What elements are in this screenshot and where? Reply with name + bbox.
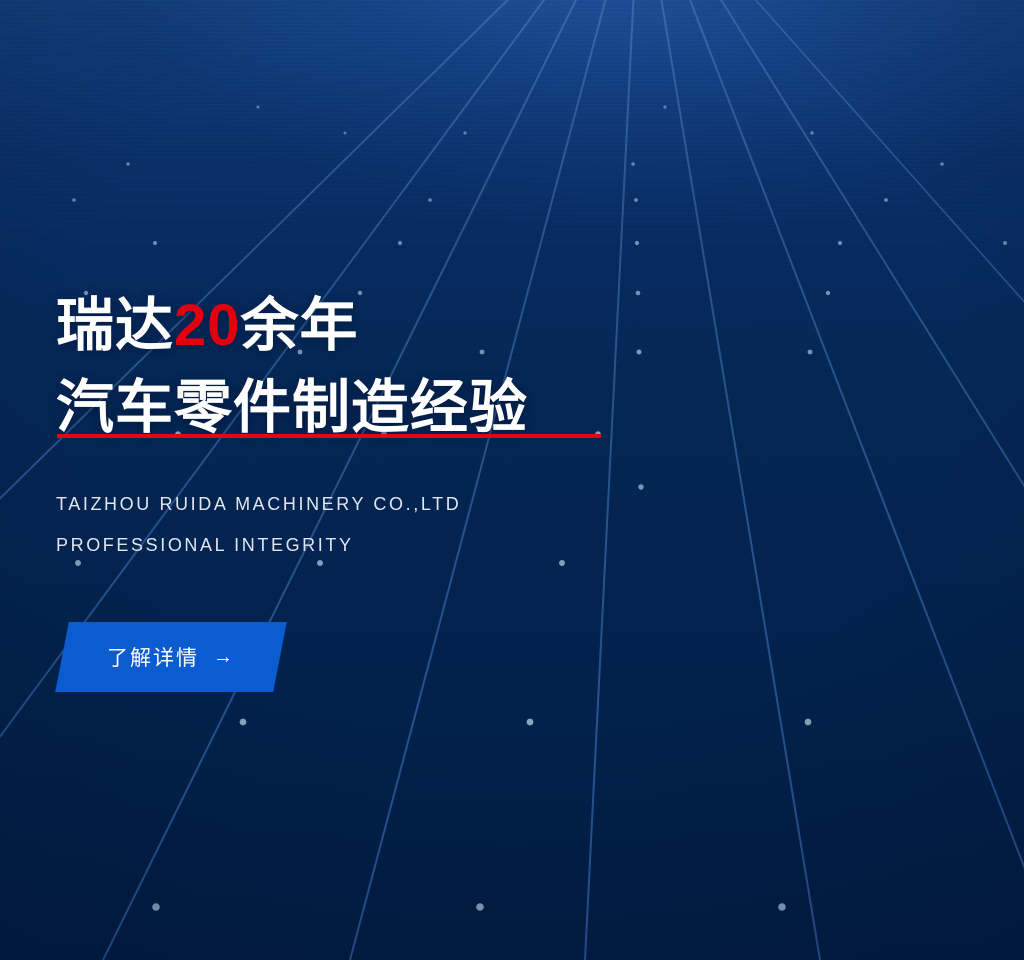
learn-more-button[interactable]: [55, 622, 287, 692]
subtitle: TAIZHOU RUIDA MACHINERY CO.,LTD PROFESSI…: [56, 484, 461, 566]
hero-banner: 瑞达20余年 汽车零件制造经验 TAIZHOU RUIDA MACHINERY …: [0, 0, 1024, 960]
red-divider: [57, 434, 601, 438]
subtitle-line-company: TAIZHOU RUIDA MACHINERY CO.,LTD: [56, 484, 461, 525]
headline-accent-number: 20: [174, 293, 241, 358]
page-title: 瑞达20余年 汽车零件制造经验: [56, 285, 736, 450]
hero-content: 瑞达20余年 汽车零件制造经验 TAIZHOU RUIDA MACHINERY …: [56, 0, 756, 960]
cta-container: 了解详情 →: [62, 622, 322, 694]
headline-suffix: 余年: [241, 293, 359, 358]
headline-prefix: 瑞达: [56, 293, 174, 358]
subtitle-line-slogan: PROFESSIONAL INTEGRITY: [56, 525, 461, 566]
headline-line-1: 瑞达20余年: [56, 285, 736, 367]
